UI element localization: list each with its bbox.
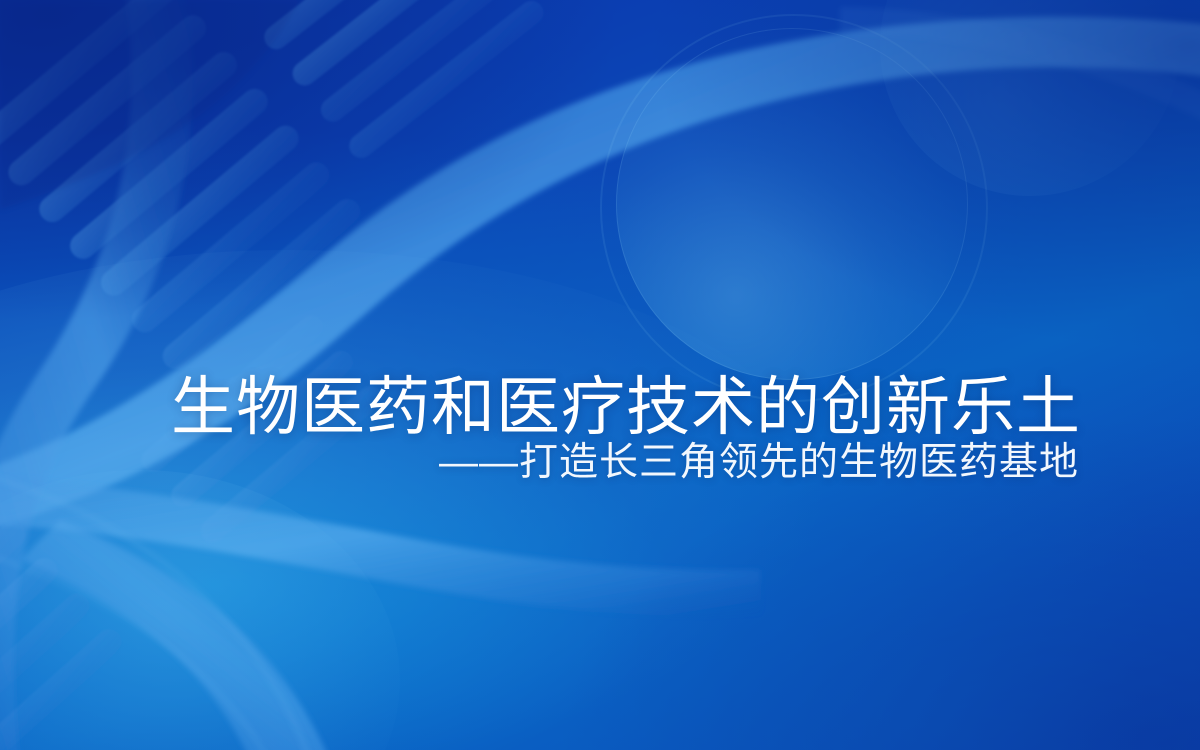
hero-banner: 生物医药和医疗技术的创新乐土 ——打造长三角领先的生物医药基地 (0, 0, 1200, 750)
hero-text-block: 生物医药和医疗技术的创新乐土 ——打造长三角领先的生物医药基地 (0, 0, 1200, 750)
page-subtitle: ——打造长三角领先的生物医药基地 (0, 440, 1079, 486)
page-title: 生物医药和医疗技术的创新乐土 (0, 374, 1081, 442)
